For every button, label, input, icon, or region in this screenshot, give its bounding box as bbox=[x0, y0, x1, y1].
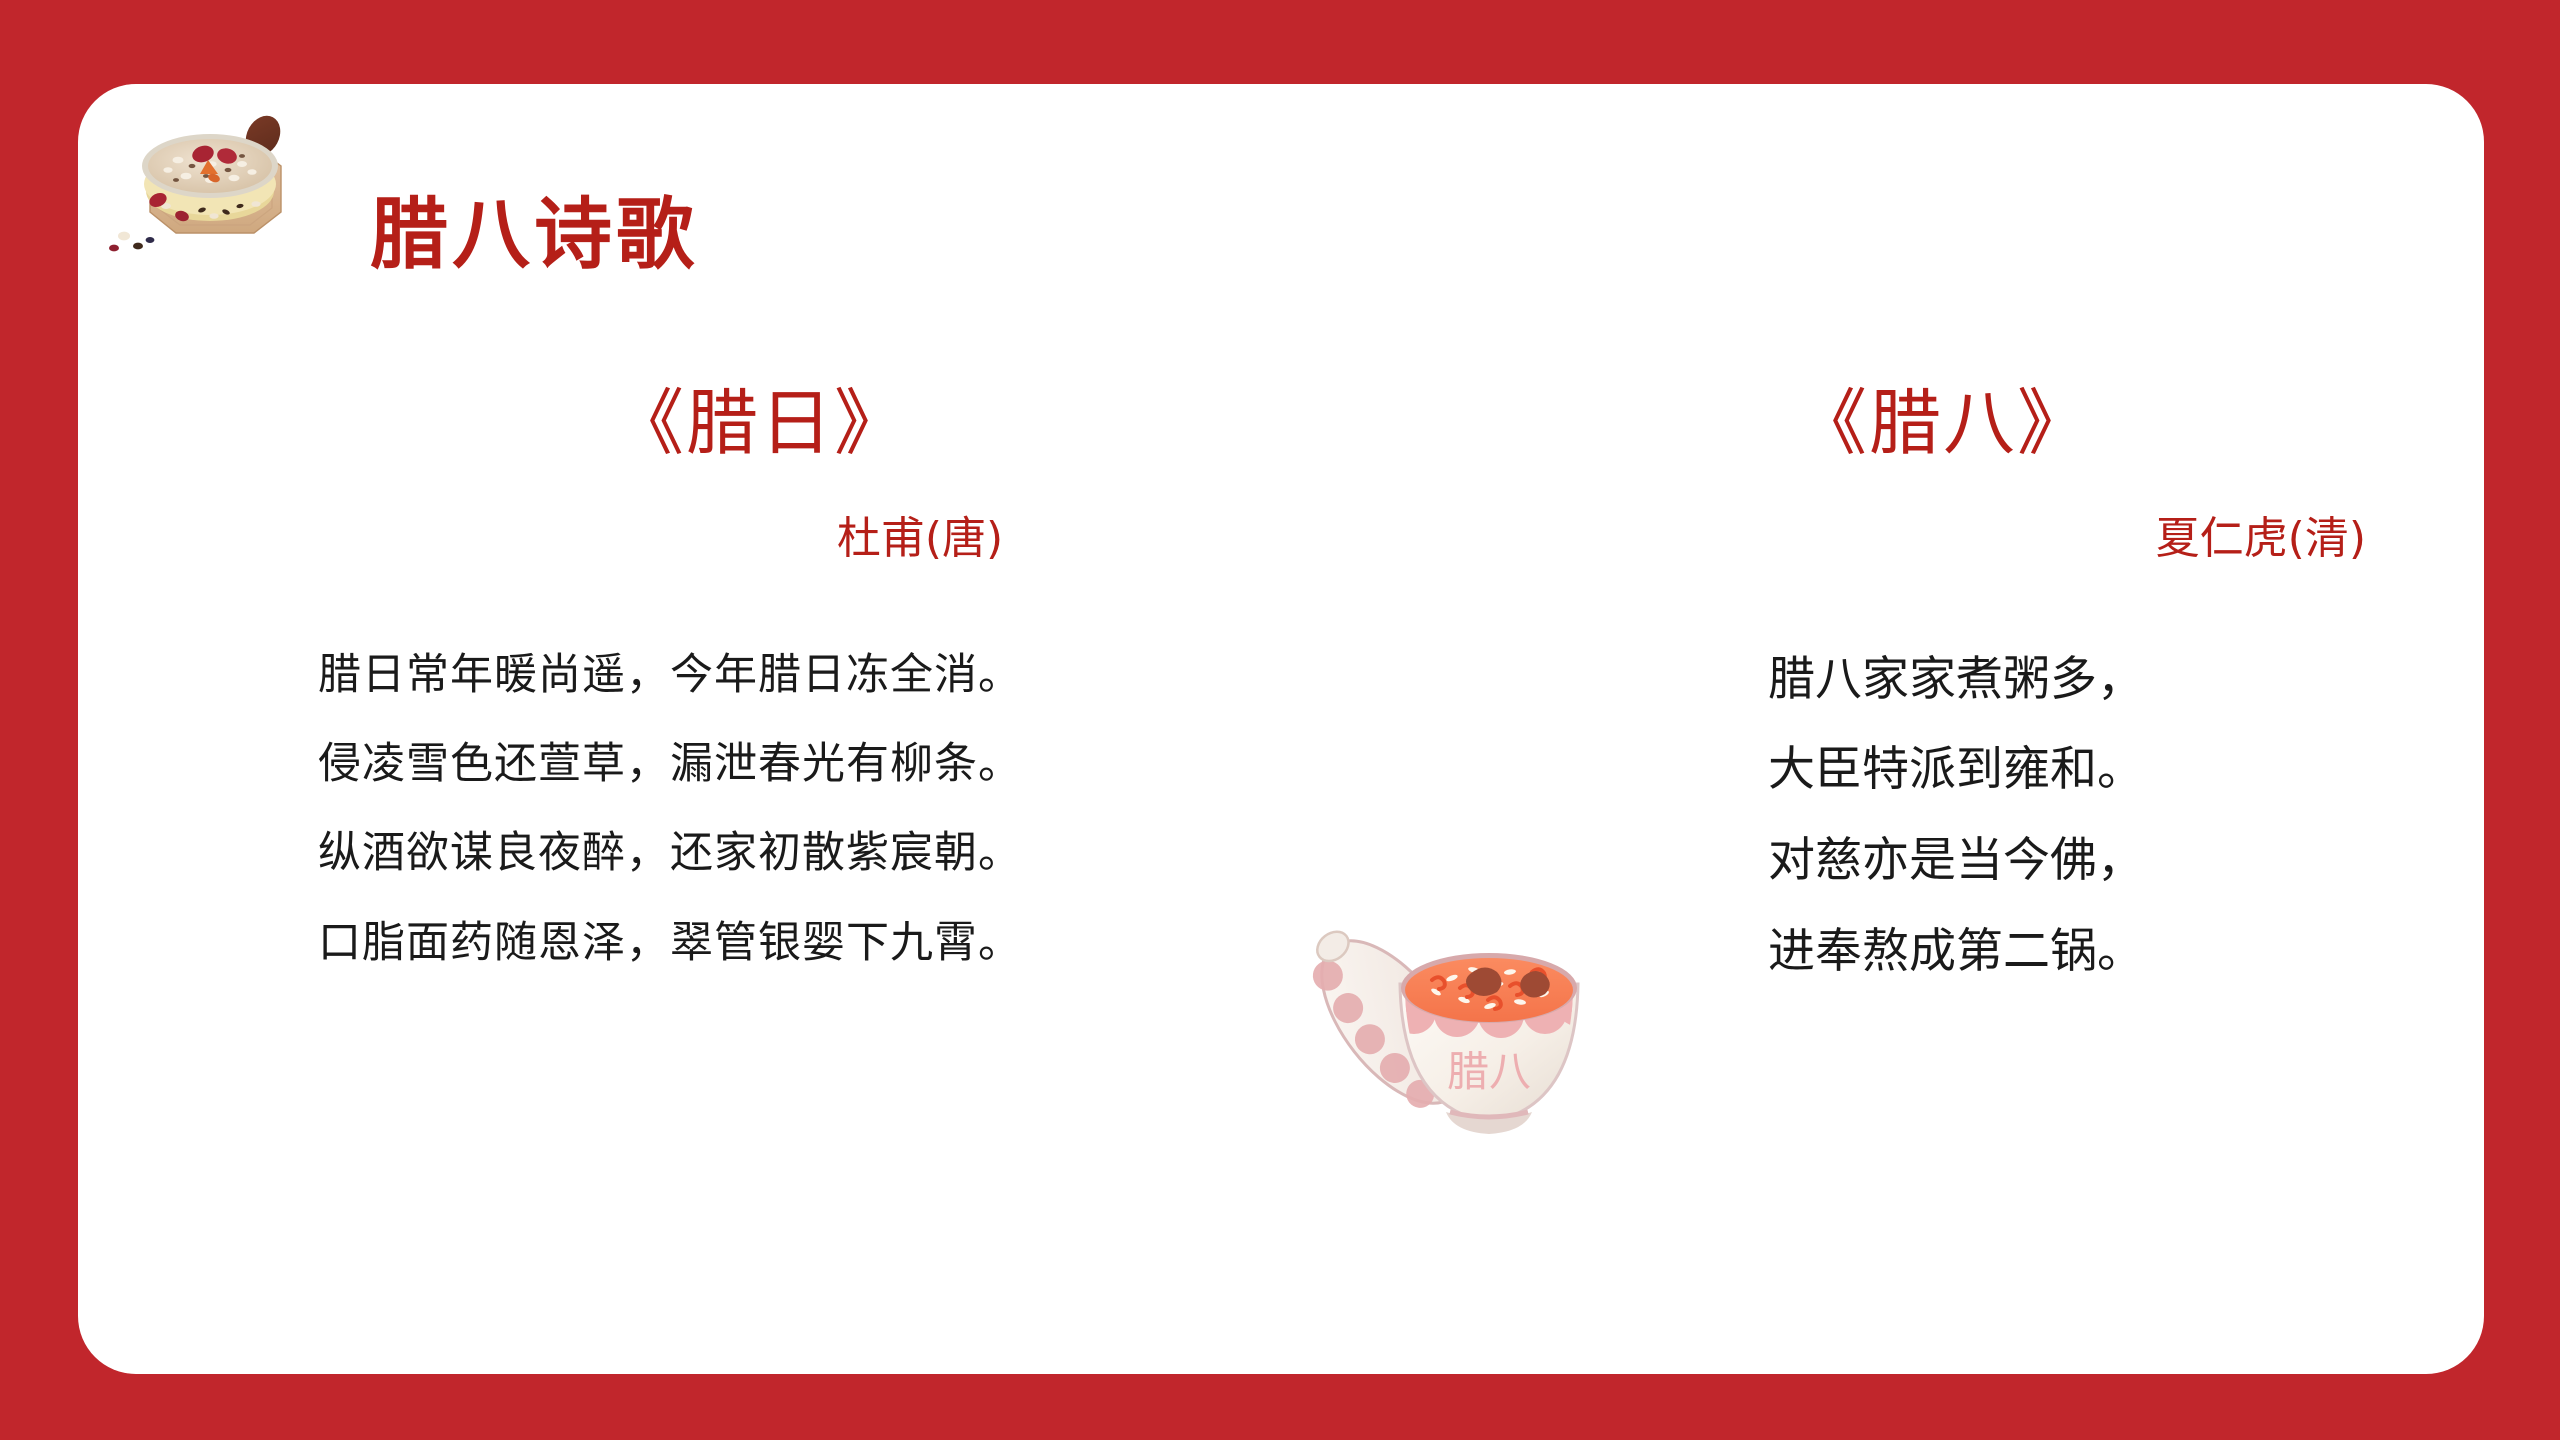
poem-title-right: 《腊八》 bbox=[1618, 384, 2378, 463]
poem-line: 对慈亦是当今佛， bbox=[1768, 816, 2378, 907]
slide-canvas: 腊八诗歌 《腊日》 杜甫(唐) 腊日常年暖尚遥，今年腊日冻全消。 侵凌雪色还萱草… bbox=[0, 0, 2560, 1440]
poem-column-right: 《腊八》 夏仁虎(清) 腊八家家煮粥多， 大臣特派到雍和。 对慈亦是当今佛， 进… bbox=[1618, 384, 2378, 997]
poem-body-left: 腊日常年暖尚遥，今年腊日冻全消。 侵凌雪色还萱草，漏泄春光有柳条。 纵酒欲谋良夜… bbox=[200, 631, 1280, 989]
poem-line: 腊日常年暖尚遥，今年腊日冻全消。 bbox=[318, 631, 1280, 720]
poem-title-left: 《腊日》 bbox=[200, 384, 1280, 463]
poem-author-right: 夏仁虎(清) bbox=[1618, 509, 2378, 568]
poem-line: 进奉熬成第二锅。 bbox=[1768, 907, 2378, 998]
laba-porridge-bowl-illustration-icon: 腊八 bbox=[1274, 854, 1694, 1204]
poem-column-left: 《腊日》 杜甫(唐) 腊日常年暖尚遥，今年腊日冻全消。 侵凌雪色还萱草，漏泄春光… bbox=[200, 384, 1280, 988]
poem-body-right: 腊八家家煮粥多， 大臣特派到雍和。 对慈亦是当今佛， 进奉熬成第二锅。 bbox=[1618, 635, 2378, 998]
poem-line: 口脂面药随恩泽，翠管银婴下九霄。 bbox=[318, 899, 1280, 988]
poem-line: 侵凌雪色还萱草，漏泄春光有柳条。 bbox=[318, 720, 1280, 809]
page-title: 腊八诗歌 bbox=[370, 196, 698, 274]
laba-porridge-bowl-photo-icon bbox=[106, 94, 321, 259]
poem-line: 纵酒欲谋良夜醉，还家初散紫宸朝。 bbox=[318, 809, 1280, 898]
poem-author-left: 杜甫(唐) bbox=[200, 509, 1280, 568]
header: 腊八诗歌 bbox=[78, 84, 2484, 274]
poem-line: 大臣特派到雍和。 bbox=[1768, 725, 2378, 816]
poem-line: 腊八家家煮粥多， bbox=[1768, 635, 2378, 726]
bowl-label-text: 腊八 bbox=[1447, 1047, 1531, 1096]
content-card: 腊八诗歌 《腊日》 杜甫(唐) 腊日常年暖尚遥，今年腊日冻全消。 侵凌雪色还萱草… bbox=[78, 84, 2484, 1374]
